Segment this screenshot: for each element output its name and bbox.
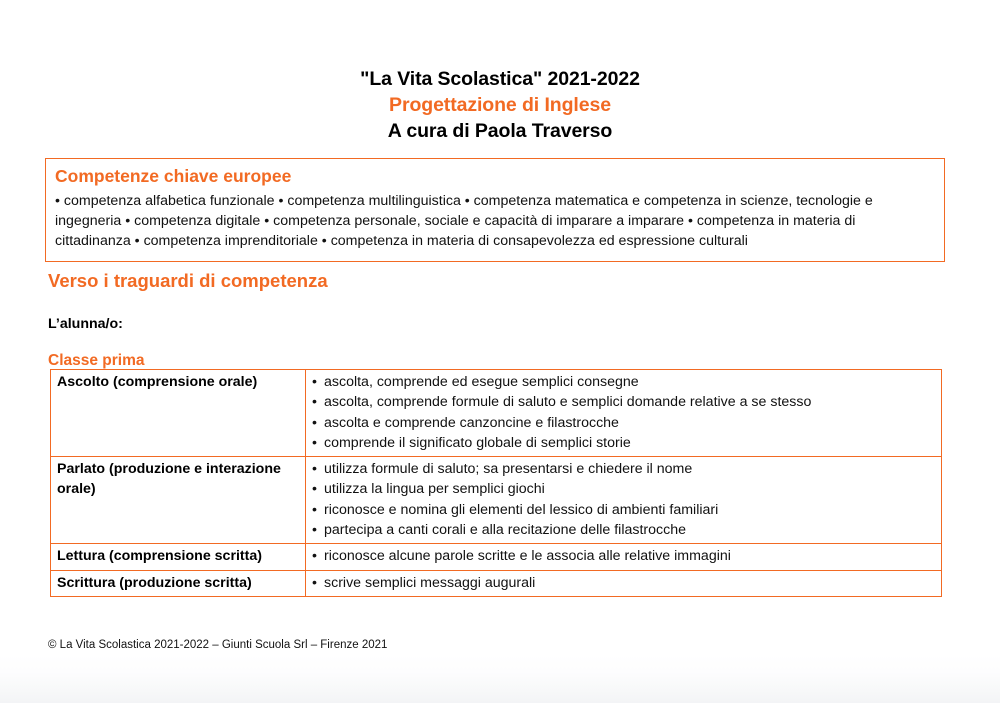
list-item: riconosce e nomina gli elementi del less… <box>312 500 936 520</box>
page-bottom-fade <box>0 655 1000 703</box>
competence-table: Ascolto (comprensione orale) ascolta, co… <box>50 369 942 597</box>
descriptor-list: utilizza formule di saluto; sa presentar… <box>312 459 936 540</box>
list-item: ascolta, comprende formule di saluto e s… <box>312 392 936 412</box>
list-item: utilizza la lingua per semplici giochi <box>312 479 936 499</box>
descriptor-list: riconosce alcune parole scritte e le ass… <box>312 546 936 566</box>
document-title-block: "La Vita Scolastica" 2021-2022 Progettaz… <box>0 0 1000 144</box>
key-competences-box: Competenze chiave europee • competenza a… <box>45 158 945 262</box>
table-row: Parlato (produzione e interazione orale)… <box>51 457 942 544</box>
table-cell-skill: Scrittura (produzione scritta) <box>51 570 306 596</box>
key-competences-heading: Competenze chiave europee <box>55 166 934 188</box>
document-page: "La Vita Scolastica" 2021-2022 Progettaz… <box>0 0 1000 703</box>
key-competences-text: • competenza alfabetica funzionale • com… <box>55 191 934 252</box>
table-row: Scrittura (produzione scritta) scrive se… <box>51 570 942 596</box>
table-cell-descriptors: scrive semplici messaggi augurali <box>306 570 942 596</box>
table-row: Ascolto (comprensione orale) ascolta, co… <box>51 370 942 457</box>
list-item: ascolta e comprende canzoncine e filastr… <box>312 413 936 433</box>
title-line-publication: "La Vita Scolastica" 2021-2022 <box>0 66 1000 92</box>
section-heading: Verso i traguardi di competenza <box>48 270 328 292</box>
list-item: riconosce alcune parole scritte e le ass… <box>312 546 936 566</box>
list-item: scrive semplici messaggi augurali <box>312 573 936 593</box>
title-line-author: A cura di Paola Traverso <box>0 118 1000 144</box>
descriptor-list: scrive semplici messaggi augurali <box>312 573 936 593</box>
list-item: utilizza formule di saluto; sa presentar… <box>312 459 936 479</box>
list-item: comprende il significato globale di semp… <box>312 433 936 453</box>
footer-copyright: © La Vita Scolastica 2021-2022 – Giunti … <box>48 639 387 651</box>
descriptor-list: ascolta, comprende ed esegue semplici co… <box>312 372 936 453</box>
title-line-subject: Progettazione di Inglese <box>0 92 1000 118</box>
subject-label: L’alunna/o: <box>48 316 123 332</box>
competence-table-body: Ascolto (comprensione orale) ascolta, co… <box>51 370 942 597</box>
table-cell-skill: Lettura (comprensione scritta) <box>51 544 306 570</box>
table-cell-descriptors: riconosce alcune parole scritte e le ass… <box>306 544 942 570</box>
list-item: ascolta, comprende ed esegue semplici co… <box>312 372 936 392</box>
list-item: partecipa a canti corali e alla recitazi… <box>312 520 936 540</box>
table-cell-skill: Ascolto (comprensione orale) <box>51 370 306 457</box>
table-row: Lettura (comprensione scritta) riconosce… <box>51 544 942 570</box>
table-cell-descriptors: utilizza formule di saluto; sa presentar… <box>306 457 942 544</box>
class-heading: Classe prima <box>48 352 145 370</box>
table-cell-skill: Parlato (produzione e interazione orale) <box>51 457 306 544</box>
table-cell-descriptors: ascolta, comprende ed esegue semplici co… <box>306 370 942 457</box>
